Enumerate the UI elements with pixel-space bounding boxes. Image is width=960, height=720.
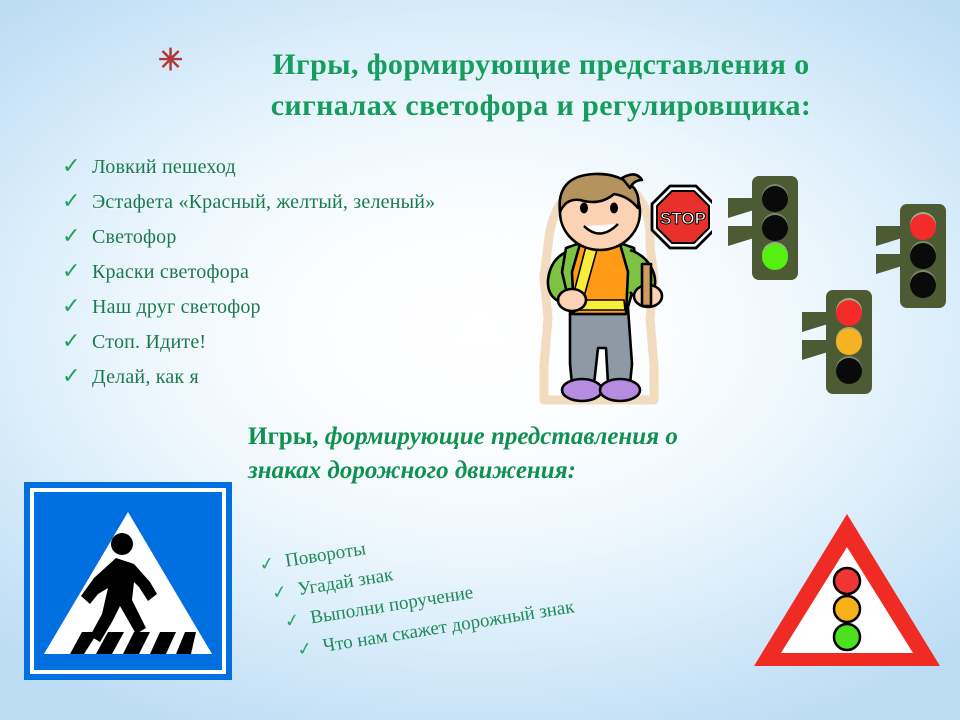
list-item-label: Светофор xyxy=(92,226,177,249)
traffic-light-red-yellow xyxy=(802,290,872,394)
page-title: Игры, формирующие представления о Игры, … xyxy=(192,44,890,126)
check-icon: ✓ xyxy=(62,191,92,213)
check-icon: ✓ xyxy=(62,156,92,178)
list-item: ✓ Светофор xyxy=(62,226,532,261)
warning-light-yellow xyxy=(834,596,860,622)
slide-title-block: ✳ Игры, формирующие представления о Игры… xyxy=(150,44,890,126)
warning-light-red xyxy=(834,568,860,594)
asterisk-icon: ✳ xyxy=(158,46,183,76)
list-item-label: Краски светофора xyxy=(92,261,249,284)
title-line-1-text: Игры, формирующие представления о xyxy=(272,48,809,81)
traffic-lights-group xyxy=(722,172,960,402)
traffic-light-red xyxy=(876,204,946,308)
title-line-2-text: сигналах светофора и регулировщика: xyxy=(271,89,812,122)
boy-with-stop-sign-illustration: STOP xyxy=(522,168,712,408)
road-sign-games-list: ✓ Повороты ✓ Угадай знак ✓ Выполни поруч… xyxy=(252,487,705,674)
list-item: ✓ Ловкий пешеход xyxy=(62,156,532,191)
check-icon: ✓ xyxy=(271,579,300,604)
list-item-label: Повороты xyxy=(284,538,368,572)
subheading-line-2: знаках дорожного движения: xyxy=(248,457,576,484)
subheading-word-1: Игры, xyxy=(248,423,318,450)
list-item: ✓ Наш друг светофор xyxy=(62,296,532,331)
section-subheading: Игры, формирующие представления о знаках… xyxy=(248,420,718,488)
warning-light-green xyxy=(834,624,860,650)
subheading-line-1: формирующие представления о xyxy=(325,423,678,450)
list-item-label: Ловкий пешеход xyxy=(92,156,236,179)
list-item: ✓ Стоп. Идите! xyxy=(62,331,532,366)
check-icon: ✓ xyxy=(62,366,92,388)
check-icon: ✓ xyxy=(62,261,92,283)
list-item-label: Эстафета «Красный, желтый, зеленый» xyxy=(92,191,435,214)
check-icon: ✓ xyxy=(296,636,325,661)
title-line-1: Игры, формирующие представления о Игры, … xyxy=(192,44,890,85)
slide-canvas: ✳ Игры, формирующие представления о Игры… xyxy=(0,0,960,720)
list-item-label: Наш друг светофор xyxy=(92,296,261,319)
traffic-signal-games-list: ✓ Ловкий пешеход ✓ Эстафета «Красный, же… xyxy=(62,156,532,401)
traffic-light-green xyxy=(728,176,798,280)
stop-sign-text: STOP xyxy=(660,209,706,228)
check-icon: ✓ xyxy=(283,608,312,633)
pedestrian-crossing-sign xyxy=(24,482,232,680)
traffic-signals-warning-sign xyxy=(748,506,946,676)
check-icon: ✓ xyxy=(62,296,92,318)
list-item: ✓ Эстафета «Красный, желтый, зеленый» xyxy=(62,191,532,226)
list-item-label: Делай, как я xyxy=(92,366,199,389)
list-item: ✓ Краски светофора xyxy=(62,261,532,296)
check-icon: ✓ xyxy=(62,331,92,353)
check-icon: ✓ xyxy=(258,551,287,576)
list-item: ✓ Делай, как я xyxy=(62,366,532,401)
list-item-label: Стоп. Идите! xyxy=(92,331,206,354)
check-icon: ✓ xyxy=(62,226,92,248)
title-line-2: сигналах светофора и регулировщика: сигн… xyxy=(192,85,890,126)
